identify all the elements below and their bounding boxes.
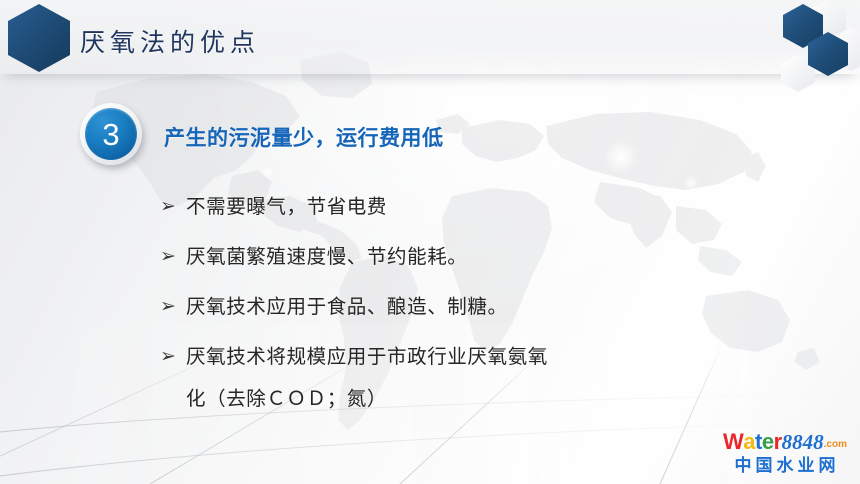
list-item-continuation-text: 化（去除ＣＯＤ；氮）	[186, 384, 760, 414]
list-item: ➢ 不需要曝气，节省电费	[160, 192, 760, 222]
step-number-badge: 3	[80, 103, 142, 165]
list-item: ➢ 厌氧技术将规模应用于市政行业厌氧氨氧 化（去除ＣＯＤ；氮）	[160, 342, 760, 414]
logo-letter-t: t	[755, 431, 762, 453]
glow-spark	[530, 92, 542, 104]
site-logo[interactable]: Water8848.com 中国水业网	[723, 431, 847, 474]
badge-number-label: 3	[102, 119, 119, 150]
logo-letter-r: r	[774, 431, 782, 453]
logo-subtitle: 中国水业网	[723, 457, 847, 474]
section-heading: 产生的污泥量少，运行费用低	[164, 122, 444, 152]
page-title: 厌氧法的优点	[80, 23, 260, 59]
arrow-bullet-icon: ➢	[160, 242, 186, 272]
logo-domain-suffix: .com	[824, 440, 847, 450]
list-item-text: 厌氧技术将规模应用于市政行业厌氧氨氧	[186, 342, 548, 372]
list-item-text: 厌氧技术应用于食品、酿造、制糖。	[186, 292, 508, 322]
glow-spark	[684, 176, 698, 190]
logo-number: 8848	[782, 432, 824, 453]
slide-canvas: 厌氧法的优点 3 产生的污泥量少，运行费用低 ➢ 不需要曝气，节省电费 ➢ 厌氧…	[0, 0, 860, 484]
logo-wordmark: Water8848.com	[723, 431, 847, 453]
logo-letter-e: e	[762, 431, 774, 453]
list-item: ➢ 厌氧技术应用于食品、酿造、制糖。	[160, 292, 760, 322]
list-item-text: 厌氧菌繁殖速度慢、节约能耗。	[186, 242, 467, 272]
arrow-bullet-icon: ➢	[160, 292, 186, 322]
list-item-text: 不需要曝气，节省电费	[186, 192, 387, 222]
glow-spark	[604, 140, 638, 174]
arrow-bullet-icon: ➢	[160, 192, 186, 222]
logo-letter-w: W	[723, 431, 743, 453]
logo-letter-a: a	[743, 431, 755, 453]
list-item: ➢ 厌氧菌繁殖速度慢、节约能耗。	[160, 242, 760, 272]
arrow-bullet-icon: ➢	[160, 342, 186, 372]
badge-core: 3	[85, 108, 137, 160]
list-item-line: ➢ 厌氧技术将规模应用于市政行业厌氧氨氧	[160, 342, 760, 372]
bullet-list: ➢ 不需要曝气，节省电费 ➢ 厌氧菌繁殖速度慢、节约能耗。 ➢ 厌氧技术应用于食…	[160, 192, 760, 414]
glow-spark	[262, 166, 274, 178]
